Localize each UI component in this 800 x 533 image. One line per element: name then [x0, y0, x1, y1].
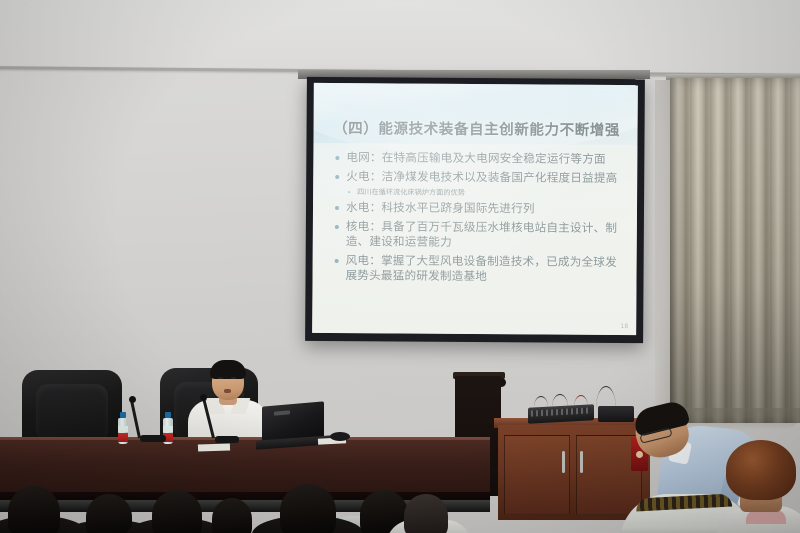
laptop-brand-logo [274, 410, 290, 415]
cabinet-handle-left[interactable] [562, 451, 565, 473]
window-curtain [670, 78, 800, 423]
curly-person-hair [726, 440, 796, 500]
mixer-knobs[interactable] [531, 407, 591, 416]
head-table [0, 440, 490, 500]
slide-bullet-4: 核电：具备了百万千瓦级压水堆核电站自主设计、制造、建设和运营能力 [333, 219, 625, 252]
bottle-upper-label [118, 426, 128, 432]
presenter-eye-left [218, 377, 223, 379]
presenter-hair [210, 360, 246, 379]
presenter-mouth [224, 389, 231, 393]
audience-head [212, 498, 252, 533]
bottle-label [118, 433, 128, 442]
slide-title: （四）能源技术装备自主创新能力不断增强 [327, 117, 625, 140]
bottle-cap[interactable] [165, 412, 171, 418]
chair-backrest-panel [36, 384, 108, 442]
audience-head [404, 494, 448, 533]
paper-sheet-left [198, 443, 230, 451]
ceiling-band [0, 0, 800, 72]
slide-bullet-3: 水电：科技水平已跻身国际先进行列 [333, 200, 625, 217]
water-bottle-left[interactable] [118, 412, 128, 444]
desk-accessory [330, 432, 350, 441]
presenter-eye-right [231, 377, 236, 379]
microphone-base-left [140, 435, 166, 442]
slide-bullet-5: 风电：掌握了大型风电设备制造技术，已成为全球发展势头最猛的研发制造基地 [332, 253, 624, 286]
slide-bullet-2: 火电：洁净煤发电技术以及装备国产化程度日益提高 [333, 169, 625, 186]
microphone-base-right [215, 436, 239, 443]
audience-head [280, 484, 336, 533]
slide-bullet-list: 电网：在特高压输电及大电网安全稳定运行等方面 火电：洁净煤发电技术以及装备国产化… [326, 150, 625, 286]
microphone-capsule-right[interactable] [200, 394, 207, 401]
foreground-person-curly-hair [722, 440, 800, 533]
audience-head [86, 494, 132, 533]
slide-bullet-1: 电网：在特高压输电及大电网安全稳定运行等方面 [333, 150, 625, 167]
bottle-upper-label [163, 426, 173, 432]
screen-surface: （四）能源技术装备自主创新能力不断增强 电网：在特高压输电及大电网安全稳定运行等… [312, 83, 638, 335]
projection-screen: （四）能源技术装备自主创新能力不断增强 电网：在特高压输电及大电网安全稳定运行等… [305, 77, 645, 343]
slide-content: （四）能源技术装备自主创新能力不断增强 电网：在特高压输电及大电网安全稳定运行等… [312, 83, 638, 335]
audience-head [152, 490, 202, 533]
microphone-capsule-left[interactable] [129, 396, 136, 403]
cabinet-handle-right[interactable] [580, 451, 583, 473]
cabinet-door-left[interactable] [504, 435, 570, 515]
audience-head [8, 486, 60, 533]
curly-person-collar [746, 510, 786, 524]
slide-sub-bullet: 四川在循环流化床锅炉方面的优势 [333, 187, 625, 199]
bottle-cap[interactable] [120, 412, 126, 418]
slide-number: 18 [621, 323, 629, 330]
lecture-hall-photo: （四）能源技术装备自主创新能力不断增强 电网：在特高压输电及大电网安全稳定运行等… [0, 0, 800, 533]
